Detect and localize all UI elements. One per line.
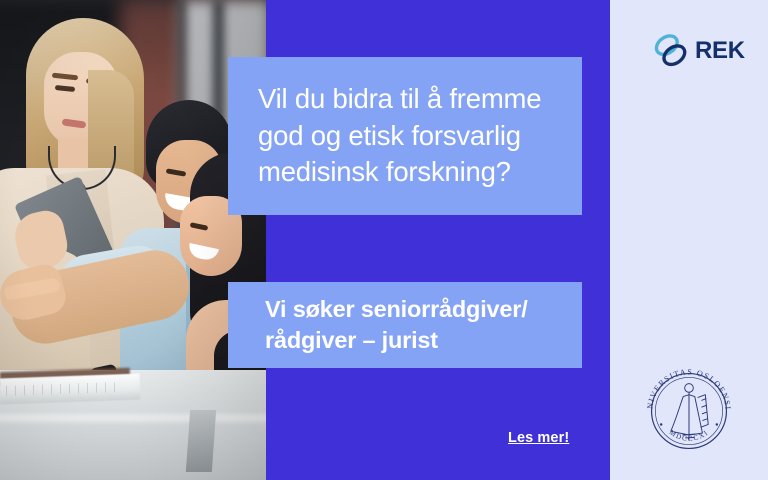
hero-photo <box>0 0 266 480</box>
subheadline-text: Vi søker seniorrådgiver/ rådgiver – juri… <box>228 294 542 355</box>
subheadline-box: Vi søker seniorrådgiver/ rådgiver – juri… <box>228 282 582 368</box>
rek-interlocking-loops-icon <box>650 30 692 72</box>
photo-scene <box>0 0 266 480</box>
recruitment-banner: Vil du bidra til å fremme god og etisk f… <box>0 0 768 480</box>
headline-text: Vil du bidra til å fremme god og etisk f… <box>228 81 559 191</box>
uio-seal-icon: UNIVERSITAS OSLOENSIS MDCCCXI <box>641 363 737 459</box>
headline-box: Vil du bidra til å fremme god og etisk f… <box>228 57 582 215</box>
photo-laptop <box>186 410 216 472</box>
photo-desk-edge <box>0 414 266 422</box>
svg-text:UNIVERSITAS OSLOENSIS: UNIVERSITAS OSLOENSIS <box>641 363 733 411</box>
read-more-link[interactable]: Les mer! <box>508 430 569 446</box>
rek-logo[interactable]: REK <box>650 28 736 74</box>
rek-wordmark: REK <box>695 39 745 63</box>
